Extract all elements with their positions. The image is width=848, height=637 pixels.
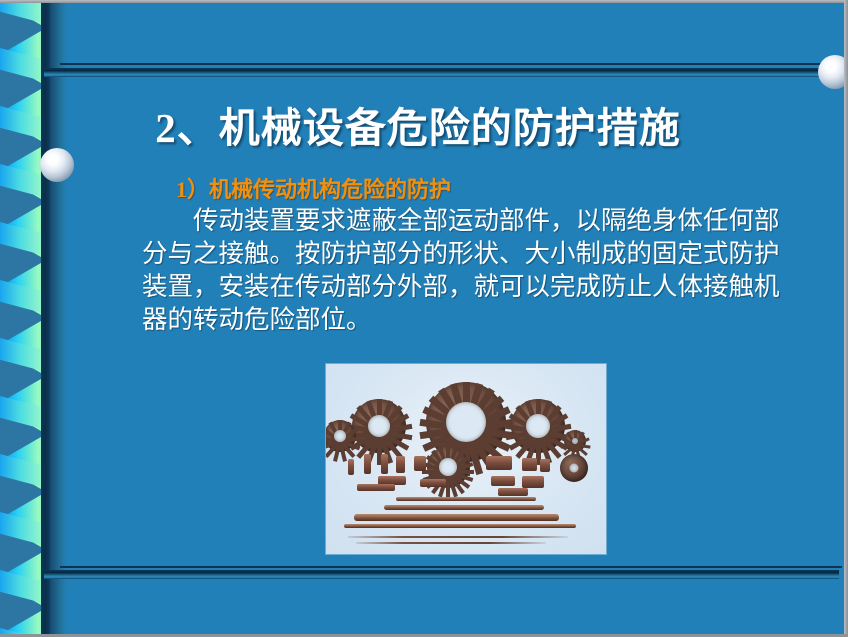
rail-line-bottom — [60, 566, 842, 568]
pulley-disc — [560, 454, 588, 482]
machine-part — [522, 458, 537, 471]
separator-rail-bottom — [44, 570, 839, 579]
presentation-slide: 2、机械设备危险的防护措施 1）机械传动机构危险的防护 传动装置要求遮蔽全部运动… — [0, 0, 848, 637]
slide-edge-right — [844, 0, 848, 637]
thin-rod — [348, 536, 568, 538]
gear-hub — [446, 402, 486, 442]
decorative-ribbon-band — [0, 0, 42, 637]
machine-part — [522, 476, 544, 488]
machine-part — [540, 459, 550, 472]
machine-part — [348, 459, 354, 475]
rail-line-top — [60, 63, 842, 65]
slide-photo — [326, 364, 606, 554]
slide-content: 2、机械设备危险的防护措施 1）机械传动机构危险的防护 传动装置要求遮蔽全部运动… — [68, 72, 840, 566]
gear-sprocket — [511, 399, 565, 453]
gear-sprocket — [326, 420, 356, 452]
pulley-hub — [570, 464, 579, 473]
transmission-shaft — [384, 505, 544, 510]
machine-part — [364, 454, 371, 474]
sphere-bullet-left — [40, 148, 74, 182]
machine-part — [420, 479, 446, 487]
gear-hub — [439, 458, 457, 476]
ribbon-shadow-dark — [41, 0, 50, 637]
transmission-shaft — [396, 497, 536, 501]
slide-body-text: 传动装置要求遮蔽全部运动部件，以隔绝身体任何部分与之接触。按防护部分的形状、大小… — [142, 204, 786, 336]
slide-edge-top — [0, 0, 848, 3]
transmission-shaft — [344, 524, 576, 528]
machine-part — [498, 488, 528, 496]
slide-title: 2、机械设备危险的防护措施 — [68, 94, 768, 154]
thin-rod — [356, 542, 546, 544]
gear-hub — [572, 438, 578, 444]
gear-hub — [526, 414, 550, 438]
machine-part — [491, 476, 515, 486]
machine-part — [396, 456, 405, 473]
gear-sprocket — [352, 399, 406, 453]
transmission-shaft — [354, 514, 559, 521]
gear-hub — [334, 430, 346, 442]
gear-hub — [368, 415, 390, 437]
machine-part — [414, 456, 426, 471]
machine-part — [381, 454, 388, 474]
photo-canvas — [326, 364, 606, 554]
gear-sprocket — [564, 430, 586, 452]
machine-part — [486, 456, 512, 470]
machine-part — [357, 484, 395, 491]
separator-rail-top — [44, 68, 839, 77]
slide-subtitle: 1）机械传动机构危险的防护 — [176, 172, 451, 204]
